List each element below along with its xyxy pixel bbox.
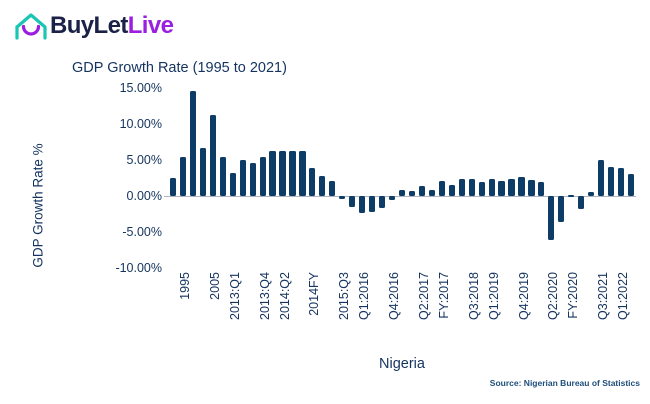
bar[interactable] <box>359 196 365 213</box>
bar[interactable] <box>439 181 445 196</box>
bar[interactable] <box>309 168 315 196</box>
bar-slot <box>429 88 435 268</box>
bar-slot <box>359 88 365 268</box>
bar-slot <box>548 88 554 268</box>
x-axis-title: Nigeria <box>168 356 636 372</box>
bar[interactable] <box>578 196 584 209</box>
bar[interactable] <box>349 196 355 207</box>
x-axis-tick-label: 2015:Q3 <box>337 272 351 320</box>
bar[interactable] <box>628 174 634 196</box>
house-smile-icon <box>14 11 48 41</box>
bar-slot <box>309 88 315 268</box>
x-axis-tick-label: 2014:Q2 <box>278 272 292 320</box>
bar-slot <box>379 88 385 268</box>
bar-slot <box>479 88 485 268</box>
y-axis-tick-label: -5.00% <box>92 225 162 239</box>
bar[interactable] <box>538 182 544 196</box>
bar-slot <box>628 88 634 268</box>
bar[interactable] <box>608 167 614 196</box>
bar-slot <box>518 88 524 268</box>
bar-slot <box>568 88 574 268</box>
bar[interactable] <box>220 157 226 196</box>
bar[interactable] <box>389 196 395 200</box>
bar[interactable] <box>180 157 186 196</box>
x-axis-tick-labels: 199520052013:Q12013:Q42014:Q22014FY2015:… <box>168 272 636 364</box>
bar[interactable] <box>200 148 206 196</box>
bar[interactable] <box>240 160 246 196</box>
bar-slot <box>269 88 275 268</box>
bar[interactable] <box>279 151 285 196</box>
x-axis-tick-label: 1995 <box>178 272 192 300</box>
y-axis-tick-labels: 15.00%10.00%5.00%0.00%-5.00%-10.00% <box>92 88 162 268</box>
bar-slot <box>598 88 604 268</box>
bar[interactable] <box>319 176 325 196</box>
x-axis-tick-label: Q2:2020 <box>546 272 560 320</box>
bar[interactable] <box>558 196 564 222</box>
x-axis-tick-label: Q1:2016 <box>357 272 371 320</box>
bar-slot <box>389 88 395 268</box>
x-axis-tick-label: Q4:2016 <box>387 272 401 320</box>
bar-slot <box>588 88 594 268</box>
bar-slot <box>170 88 176 268</box>
bar-slot <box>508 88 514 268</box>
bar[interactable] <box>459 179 465 196</box>
bar[interactable] <box>469 179 475 196</box>
bar[interactable] <box>518 177 524 196</box>
x-axis-tick-label: Q1:2022 <box>616 272 630 320</box>
y-axis-tick-label: -10.00% <box>92 261 162 275</box>
source-note: Source: Nigerian Bureau of Statistics <box>490 378 640 388</box>
y-axis-tick-label: 10.00% <box>92 117 162 131</box>
bar-slot <box>419 88 425 268</box>
bar[interactable] <box>339 196 345 199</box>
x-axis-tick-label: Q2:2017 <box>417 272 431 320</box>
bar-slot <box>240 88 246 268</box>
bar[interactable] <box>498 181 504 196</box>
brand-wordmark: BuyLetLive <box>50 14 173 38</box>
bar-slot <box>339 88 345 268</box>
bar-slot <box>439 88 445 268</box>
bar[interactable] <box>379 196 385 208</box>
bar[interactable] <box>588 192 594 196</box>
x-axis-tick-label: Q3:2021 <box>596 272 610 320</box>
bar[interactable] <box>289 151 295 196</box>
bar-slot <box>498 88 504 268</box>
x-axis-tick-label: Q1:2019 <box>487 272 501 320</box>
bar-slot <box>349 88 355 268</box>
brand-logo[interactable]: BuyLetLive <box>14 8 173 44</box>
bar-slot <box>369 88 375 268</box>
bar-slot <box>190 88 196 268</box>
bar-slot <box>319 88 325 268</box>
bar[interactable] <box>190 91 196 196</box>
bar-slot <box>220 88 226 268</box>
bar[interactable] <box>329 181 335 196</box>
bar-slot <box>399 88 405 268</box>
x-axis-tick-label: 2014FY <box>307 272 321 316</box>
bar[interactable] <box>449 185 455 196</box>
x-axis-tick-label: 2013:Q4 <box>258 272 272 320</box>
chart-title: GDP Growth Rate (1995 to 2021) <box>72 60 287 76</box>
bar-slot <box>250 88 256 268</box>
bar-slot <box>230 88 236 268</box>
bar-slot <box>200 88 206 268</box>
bar-slot <box>618 88 624 268</box>
bar[interactable] <box>369 196 375 212</box>
bar[interactable] <box>260 157 266 196</box>
brand-wordmark-accent: Live <box>128 12 174 39</box>
bar[interactable] <box>618 168 624 196</box>
bar[interactable] <box>479 182 485 196</box>
bar[interactable] <box>399 190 405 196</box>
bar-slot <box>449 88 455 268</box>
bar-slot <box>558 88 564 268</box>
x-axis-tick-label: FY:2017 <box>437 272 451 319</box>
bar-slot <box>289 88 295 268</box>
x-axis-tick-label: Q3:2018 <box>467 272 481 320</box>
bar-slot <box>260 88 266 268</box>
bar[interactable] <box>548 196 554 240</box>
bar-slot <box>578 88 584 268</box>
bar[interactable] <box>598 160 604 196</box>
bar[interactable] <box>568 195 574 197</box>
bar[interactable] <box>508 179 514 196</box>
bar-slot <box>210 88 216 268</box>
plot-area <box>168 88 636 268</box>
x-axis-tick-label: 2005 <box>208 272 222 300</box>
bar-series <box>168 88 636 268</box>
y-axis-tick-label: 0.00% <box>92 189 162 203</box>
bar-slot <box>180 88 186 268</box>
bar[interactable] <box>170 178 176 196</box>
x-axis-tick-label: Q4:2019 <box>517 272 531 320</box>
bar[interactable] <box>489 179 495 196</box>
bar[interactable] <box>528 180 534 196</box>
bar[interactable] <box>269 151 275 196</box>
bar[interactable] <box>210 115 216 196</box>
x-axis-tick-label: FY:2020 <box>566 272 580 319</box>
bar-slot <box>469 88 475 268</box>
bar[interactable] <box>299 151 305 196</box>
bar[interactable] <box>230 173 236 196</box>
bar-slot <box>528 88 534 268</box>
bar[interactable] <box>250 163 256 196</box>
y-axis-tick-label: 15.00% <box>92 81 162 95</box>
bar-slot <box>329 88 335 268</box>
bar-slot <box>279 88 285 268</box>
brand-wordmark-primary: BuyLet <box>50 12 128 39</box>
bar-slot <box>459 88 465 268</box>
bar-slot <box>608 88 614 268</box>
bar[interactable] <box>419 186 425 196</box>
bar[interactable] <box>409 191 415 196</box>
bar-slot <box>489 88 495 268</box>
x-axis-tick-label: 2013:Q1 <box>228 272 242 320</box>
bar-slot <box>409 88 415 268</box>
bar-slot <box>538 88 544 268</box>
bar[interactable] <box>429 190 435 196</box>
gdp-growth-chart: GDP Growth Rate (1995 to 2021) GDP Growt… <box>0 48 650 404</box>
bar-slot <box>299 88 305 268</box>
y-axis-title: GDP Growth Rate % <box>31 116 46 296</box>
y-axis-tick-label: 5.00% <box>92 153 162 167</box>
